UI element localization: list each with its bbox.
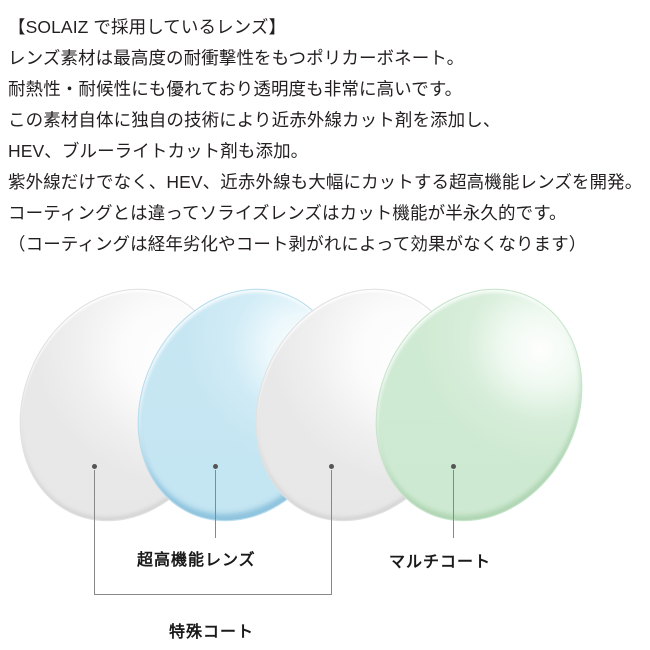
description-line-4: HEV、ブルーライトカット剤も添加。 bbox=[8, 136, 648, 167]
lens-3-anchor-dot bbox=[329, 464, 334, 469]
lens-4-anchor-dot bbox=[451, 464, 456, 469]
description-line-2: 耐熱性・耐候性にも優れており透明度も非常に高いです。 bbox=[8, 74, 648, 105]
description-line-1: レンズ素材は最高度の耐衝撃性をもつポリカーボネート。 bbox=[8, 43, 648, 74]
description-text-block: 【SOLAIZ で採用しているレンズ】 レンズ素材は最高度の耐衝撃性をもつポリカ… bbox=[8, 12, 648, 260]
section-heading: 【SOLAIZ で採用しているレンズ】 bbox=[8, 12, 648, 43]
lens-2-anchor-dot bbox=[213, 464, 218, 469]
callout-label-high-function-lens: 超高機能レンズ bbox=[137, 546, 256, 570]
description-line-5: 紫外線だけでなく、HEV、近赤外線も大幅にカットする超高機能レンズを開発。 bbox=[8, 167, 648, 198]
callout-label-multi-coat: マルチコート bbox=[389, 548, 491, 572]
lens-illustration-group bbox=[0, 285, 650, 525]
description-line-6: コーティングとは違ってソライズレンズはカット機能が半永久的です。 bbox=[8, 198, 648, 229]
lens-infographic-page: 【SOLAIZ で採用しているレンズ】 レンズ素材は最高度の耐衝撃性をもつポリカ… bbox=[0, 0, 650, 650]
callout-label-special-coat: 特殊コート bbox=[169, 618, 254, 642]
lens-1-anchor-dot bbox=[92, 464, 97, 469]
description-line-3: この素材自体に独自の技術により近赤外線カット剤を添加し、 bbox=[8, 105, 648, 136]
description-line-7: （コーティングは経年劣化やコート剥がれによって効果がなくなります） bbox=[8, 229, 648, 260]
